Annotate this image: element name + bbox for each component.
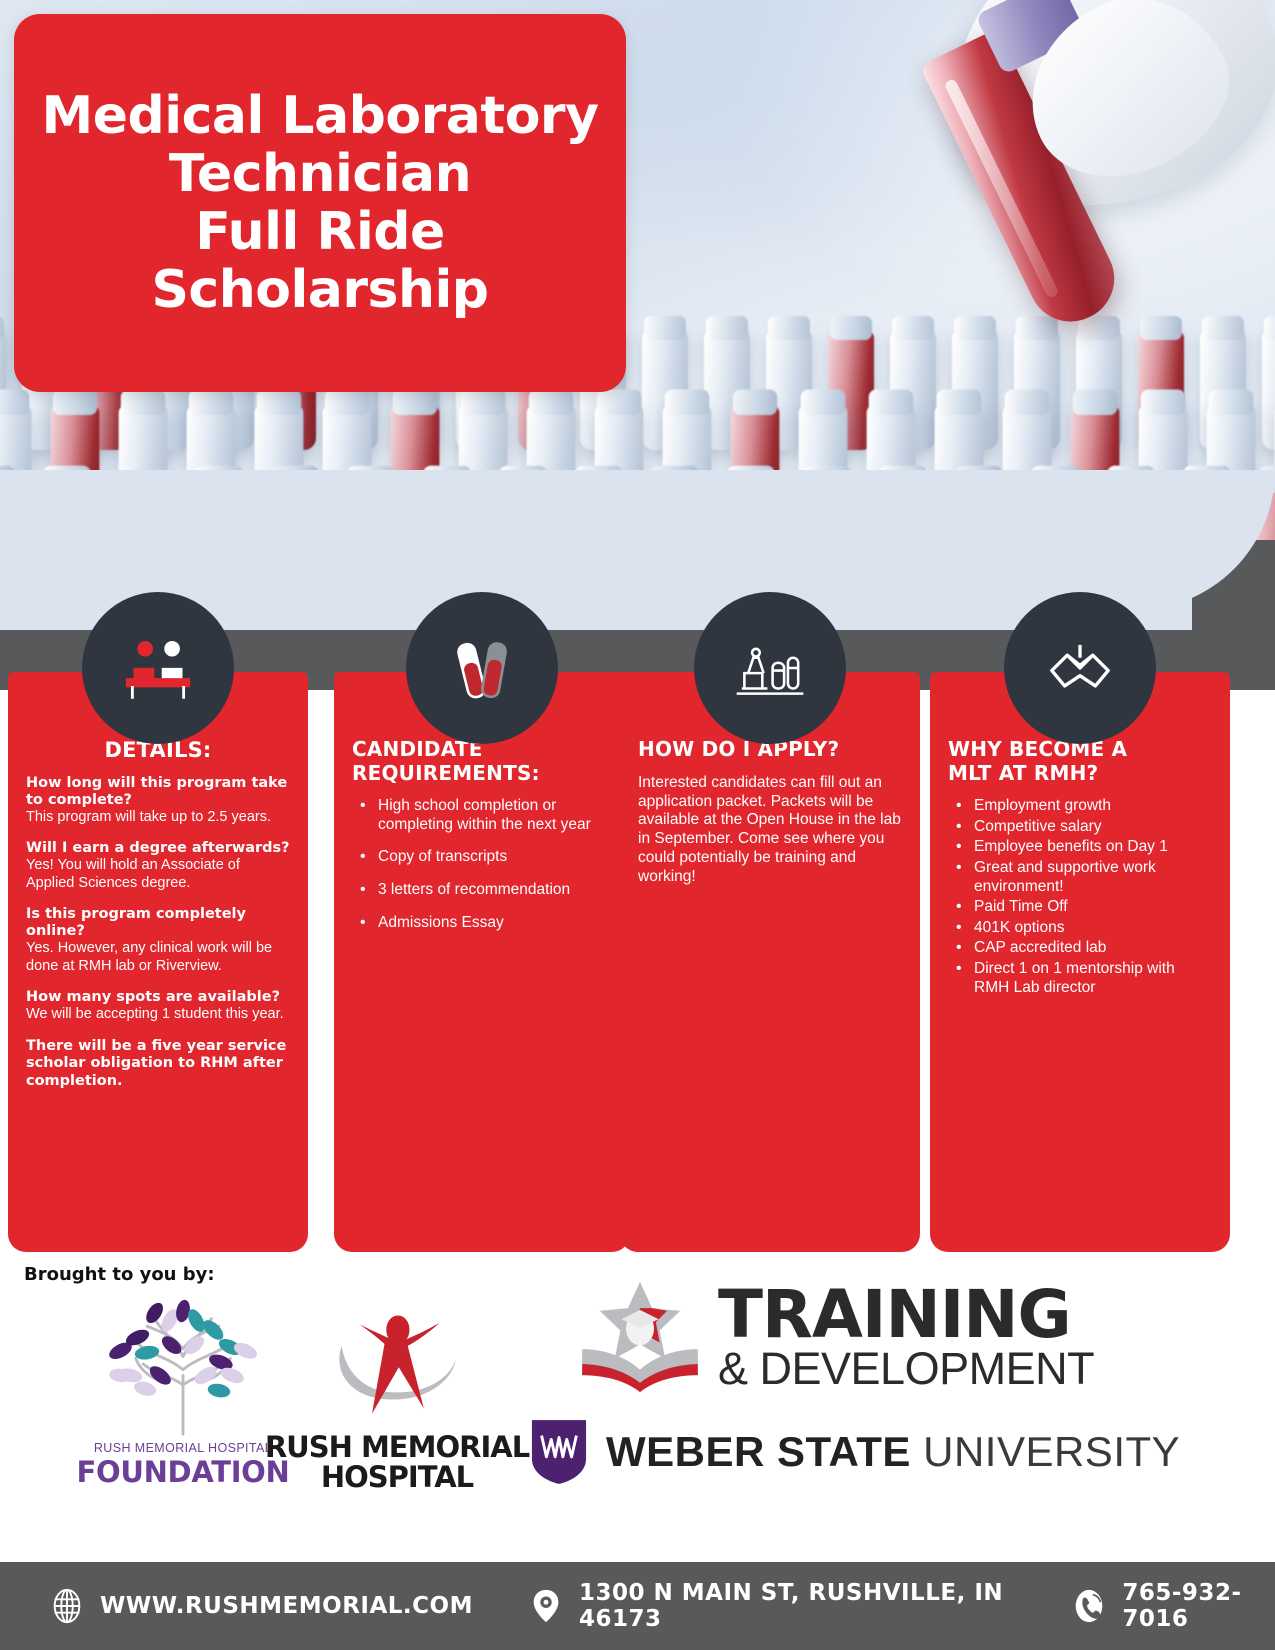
weber-shield-icon	[530, 1418, 588, 1486]
tube-cap	[1209, 390, 1254, 415]
training-logo-word-1: TRAINING	[718, 1283, 1094, 1348]
contact-phone[interactable]: 765-932-7016	[1070, 1580, 1275, 1632]
tube-cap	[121, 390, 166, 415]
list-item: Direct 1 on 1 mentorship with RMH Lab di…	[952, 960, 1212, 997]
list-item: Competitive salary	[952, 818, 1212, 837]
brought-to-you-by-label: Brought to you by:	[24, 1264, 215, 1285]
requirements-heading-line-2: REQUIREMENTS:	[352, 761, 540, 785]
hospital-logo-line-1: RUSH MEMORIAL	[262, 1433, 532, 1463]
detail-note: There will be a five year service schola…	[26, 1038, 290, 1090]
title-line-2: Technician	[38, 145, 602, 203]
tube-cap	[257, 390, 302, 415]
list-item: Employee benefits on Day 1	[952, 838, 1212, 857]
title-panel: Medical Laboratory Technician Full Ride …	[14, 14, 626, 392]
tube-cap	[529, 390, 574, 415]
detail-answer: This program will take up to 2.5 years.	[26, 809, 290, 826]
contact-website-text: WWW.RUSHMEMORIAL.COM	[100, 1593, 473, 1619]
column-apply: HOW DO I APPLY? Interested candidates ca…	[620, 672, 920, 1252]
page-title: Medical Laboratory Technician Full Ride …	[14, 87, 626, 320]
list-item: Paid Time Off	[952, 898, 1212, 917]
contact-address[interactable]: 1300 N MAIN ST, RUSHVILLE, IN 46173	[527, 1580, 1016, 1632]
blood-tube	[1262, 330, 1275, 450]
apply-body-text: Interested candidates can fill out an ap…	[638, 774, 902, 887]
detail-answer: We will be accepting 1 student this year…	[26, 1006, 290, 1023]
why-benefits-list: Employment growth Competitive salary Emp…	[948, 797, 1212, 997]
title-line-1: Medical Laboratory	[38, 87, 602, 145]
contact-address-text: 1300 N MAIN ST, RUSHVILLE, IN 46173	[579, 1580, 1016, 1632]
title-line-3: Full Ride Scholarship	[38, 203, 602, 319]
tube-cap	[665, 390, 710, 415]
detail-item: How long will this program take to compl…	[26, 775, 290, 827]
detail-item: How many spots are available? We will be…	[26, 989, 290, 1024]
tube-cap	[869, 390, 914, 415]
contact-website[interactable]: WWW.RUSHMEMORIAL.COM	[48, 1587, 473, 1625]
tube-cap	[937, 390, 982, 415]
detail-question: How many spots are available?	[26, 989, 290, 1006]
training-logo-word-2: & DEVELOPMENT	[718, 1347, 1094, 1391]
map-pin-icon	[527, 1587, 565, 1625]
gloved-hand-with-vial	[727, 0, 1247, 392]
tube-cap	[733, 390, 778, 415]
tube-cap	[461, 390, 506, 415]
star-person-logo-icon	[307, 1294, 487, 1428]
detail-question: Will I earn a degree afterwards?	[26, 840, 290, 857]
list-item: 3 letters of recommendation	[356, 881, 612, 900]
column-requirements: CANDIDATE REQUIREMENTS: High school comp…	[334, 672, 630, 1252]
sponsor-section: Brought to you by:	[0, 1252, 1275, 1560]
column-details: DETAILS: How long will this program take…	[8, 672, 308, 1252]
weber-state-logo: WEBER STATE UNIVERSITY	[530, 1418, 1190, 1486]
interview-desk-icon	[82, 592, 234, 744]
contact-bar: WWW.RUSHMEMORIAL.COM 1300 N MAIN ST, RUS…	[0, 1562, 1275, 1650]
column-why-heading: WHY BECOME A MLT AT RMH?	[948, 738, 1212, 785]
list-item: Great and supportive work environment!	[952, 859, 1212, 896]
weber-state-light-text: UNIVERSITY	[923, 1428, 1180, 1475]
tube-cap	[801, 390, 846, 415]
list-item: Admissions Essay	[356, 914, 612, 933]
detail-item: Is this program completely online? Yes. …	[26, 906, 290, 975]
list-item: CAP accredited lab	[952, 939, 1212, 958]
microscope-lab-icon	[694, 592, 846, 744]
poster-root: Medical Laboratory Technician Full Ride …	[0, 0, 1275, 1650]
tube-cap	[393, 390, 438, 415]
tube-cap	[53, 390, 98, 415]
detail-question: How long will this program take to compl…	[26, 775, 290, 809]
column-why: WHY BECOME A MLT AT RMH? Employment grow…	[930, 672, 1230, 1252]
list-item: Copy of transcripts	[356, 848, 612, 867]
requirements-list: High school completion or completing wit…	[352, 797, 612, 932]
list-item: High school completion or completing wit…	[356, 797, 612, 834]
column-requirements-heading: CANDIDATE REQUIREMENTS:	[352, 738, 612, 785]
detail-item: Will I earn a degree afterwards? Yes! Yo…	[26, 840, 290, 892]
training-development-logo: TRAINING & DEVELOPMENT	[570, 1276, 1170, 1398]
grey-swoosh-mask-curve	[0, 470, 1275, 610]
handshake-icon	[1004, 592, 1156, 744]
detail-answer: Yes! You will hold an Associate of Appli…	[26, 857, 290, 892]
weber-state-wordmark: WEBER STATE UNIVERSITY	[606, 1428, 1180, 1476]
hospital-logo: RUSH MEMORIAL HOSPITAL	[262, 1294, 532, 1492]
weber-state-bold-text: WEBER STATE	[606, 1428, 911, 1475]
detail-question: Is this program completely online?	[26, 906, 290, 940]
list-item: 401K options	[952, 919, 1212, 938]
test-tubes-icon	[406, 592, 558, 744]
contact-phone-text: 765-932-7016	[1122, 1580, 1275, 1632]
tube-cap	[0, 316, 4, 340]
book-star-graduation-icon	[570, 1276, 710, 1398]
tube-cap	[597, 390, 642, 415]
tube-cap	[325, 390, 370, 415]
tube-cap	[1073, 390, 1118, 415]
tube-cap	[644, 316, 686, 340]
info-columns: DETAILS: How long will this program take…	[0, 672, 1275, 1252]
tube-cap	[1141, 390, 1186, 415]
hospital-logo-line-2: HOSPITAL	[262, 1463, 532, 1493]
globe-icon	[48, 1587, 86, 1625]
phone-icon	[1070, 1587, 1108, 1625]
tube-cap	[189, 390, 234, 415]
why-heading-line-2: MLT AT RMH?	[948, 761, 1098, 785]
tube-cap	[1264, 316, 1275, 340]
tree-logo-icon	[88, 1294, 278, 1436]
tube-cap	[0, 390, 29, 415]
list-item: Employment growth	[952, 797, 1212, 816]
detail-answer: Yes. However, any clinical work will be …	[26, 940, 290, 975]
tube-cap	[1005, 390, 1050, 415]
